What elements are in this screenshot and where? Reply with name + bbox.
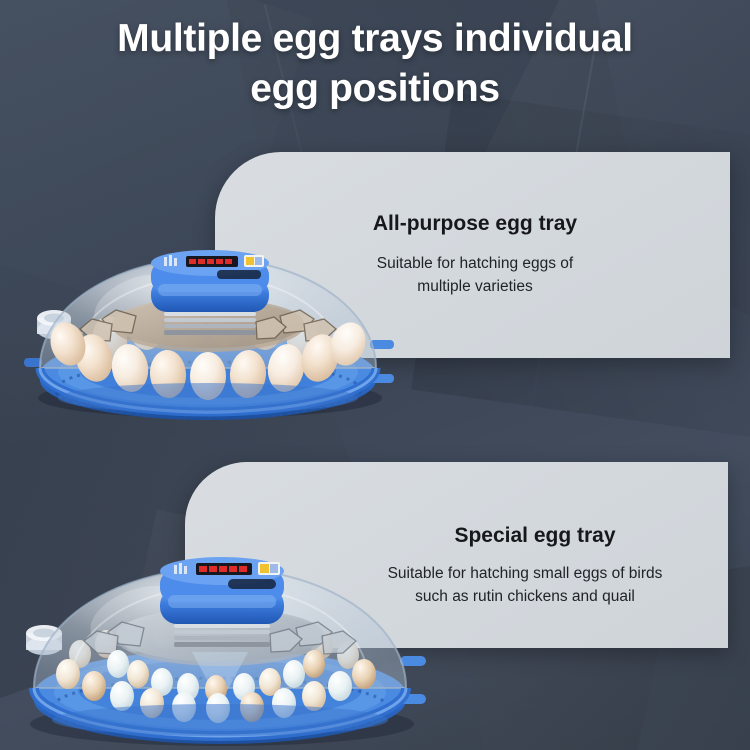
page-title-line-1: Multiple egg trays individual bbox=[117, 17, 633, 60]
control-module bbox=[151, 250, 269, 312]
product-feature-banner: Multiple egg trays individual egg positi… bbox=[0, 0, 750, 750]
card-subtitle-line-1: Suitable for hatching eggs of bbox=[377, 255, 573, 272]
card-subtitle-line-2: multiple varieties bbox=[417, 278, 532, 295]
card-subtitle-line-2: such as rutin chickens and quail bbox=[415, 588, 635, 605]
product-image-incubator-large-eggs bbox=[18, 222, 398, 422]
control-module bbox=[160, 557, 284, 624]
page-title: Multiple egg trays individual egg positi… bbox=[0, 14, 750, 114]
page-title-line-2: egg positions bbox=[0, 64, 750, 114]
product-image-incubator-small-eggs bbox=[10, 528, 430, 750]
